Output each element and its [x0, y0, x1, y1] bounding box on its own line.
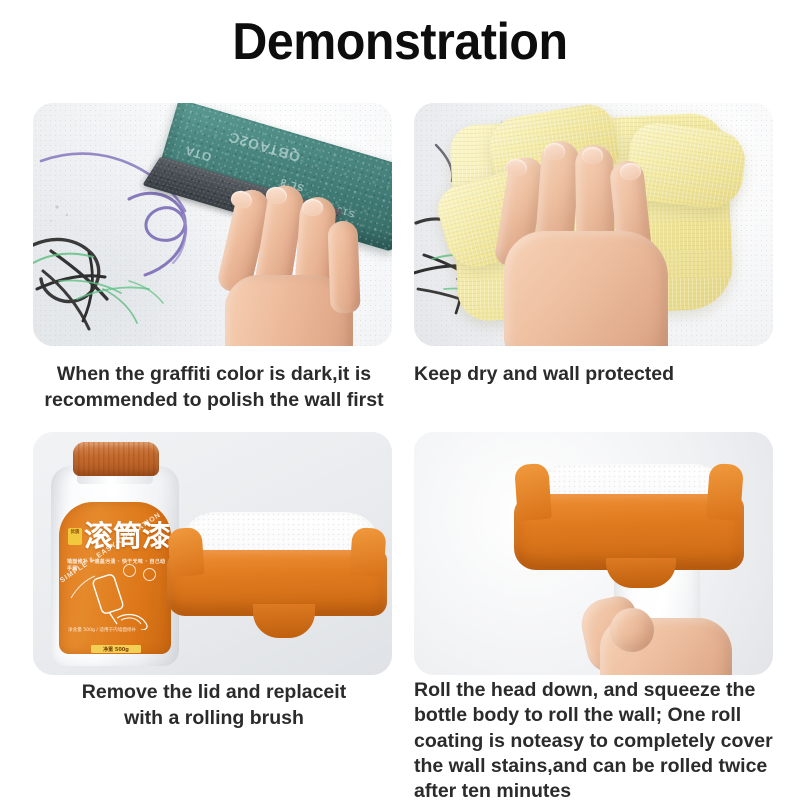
roller-side-arm: [167, 527, 204, 577]
fingernail: [582, 147, 603, 164]
label-badge-text: 优质: [68, 528, 82, 535]
block-marking-text: OTA: [183, 143, 213, 164]
step-3-image-panel: 优质 滚筒漆 墙面修补 · 遮盖污渍 · 快干无味 · 自己动手刷 SIMPLE…: [33, 432, 392, 675]
wiping-wall-with-yellow-cloth-photo: [414, 103, 773, 346]
caption-line: Roll the head down, and squeeze the: [414, 678, 792, 703]
roller-side-arm: [349, 527, 386, 577]
hand: [500, 127, 720, 346]
roller-side-arm: [514, 463, 552, 521]
little-finger: [327, 221, 360, 314]
caption-line: with a rolling brush: [18, 706, 410, 732]
label-ring-icon: [143, 568, 156, 581]
page-title: Demonstration: [28, 12, 772, 72]
fingernail: [544, 143, 565, 160]
caption-line: When the graffiti color is dark,it is: [18, 362, 410, 388]
label-ring-icon: [123, 564, 136, 577]
hand: [584, 582, 744, 675]
step-4-image-panel: [414, 432, 773, 675]
palm: [504, 231, 668, 346]
paint-bottle-and-roller-head-photo: 优质 滚筒漆 墙面修补 · 遮盖污渍 · 快干无味 · 自己动手刷 SIMPLE…: [33, 432, 392, 675]
sanding-block-on-graffiti-wall-photo: QBTAO2C SL 8 OTA S19: [33, 103, 392, 346]
label-weight-badge: 净重 500g: [91, 645, 141, 653]
hand: [229, 163, 392, 346]
step-4-caption: Roll the head down, and squeeze the bott…: [414, 678, 792, 805]
knuckle: [610, 608, 654, 652]
roller-head: [514, 464, 744, 592]
paint-bottle: 优质 滚筒漆 墙面修补 · 遮盖污渍 · 快干无味 · 自己动手刷 SIMPLE…: [51, 444, 179, 666]
rolling-paint-on-wall-photo: [414, 432, 773, 675]
caption-line: bottle body to roll the wall; One roll: [414, 703, 792, 728]
caption-line: after ten minutes: [414, 779, 792, 804]
step-2-image-panel: [414, 103, 773, 346]
roller-side-arm: [706, 463, 744, 521]
product-label: 优质 滚筒漆 墙面修补 · 遮盖污渍 · 快干无味 · 自己动手刷 SIMPLE…: [59, 502, 171, 654]
label-footer-text: 净含量 500g / 适用于内墙面修补: [68, 628, 162, 635]
roller-stem: [253, 604, 315, 638]
roller-head: [167, 512, 387, 662]
caption-line: the wall stains,and can be rolled twice: [414, 754, 792, 779]
quality-badge-icon: 优质: [68, 528, 82, 545]
caption-line: Keep dry and wall protected: [414, 362, 784, 388]
step-3-caption: Remove the lid and replaceit with a roll…: [18, 680, 410, 731]
caption-line: Remove the lid and replaceit: [18, 680, 410, 706]
demonstration-infographic: Demonstration: [0, 0, 800, 800]
block-marking-text: QBTAO2C: [226, 129, 302, 165]
step-1-image-panel: QBTAO2C SL 8 OTA S19: [33, 103, 392, 346]
caption-line: coating is noteasy to completely cover: [414, 729, 792, 754]
step-1-caption: When the graffiti color is dark,it is re…: [18, 362, 410, 413]
fingernail: [302, 199, 323, 216]
step-2-caption: Keep dry and wall protected: [414, 362, 784, 388]
orange-cap: [73, 442, 159, 476]
caption-line: recommended to polish the wall first: [18, 388, 410, 414]
